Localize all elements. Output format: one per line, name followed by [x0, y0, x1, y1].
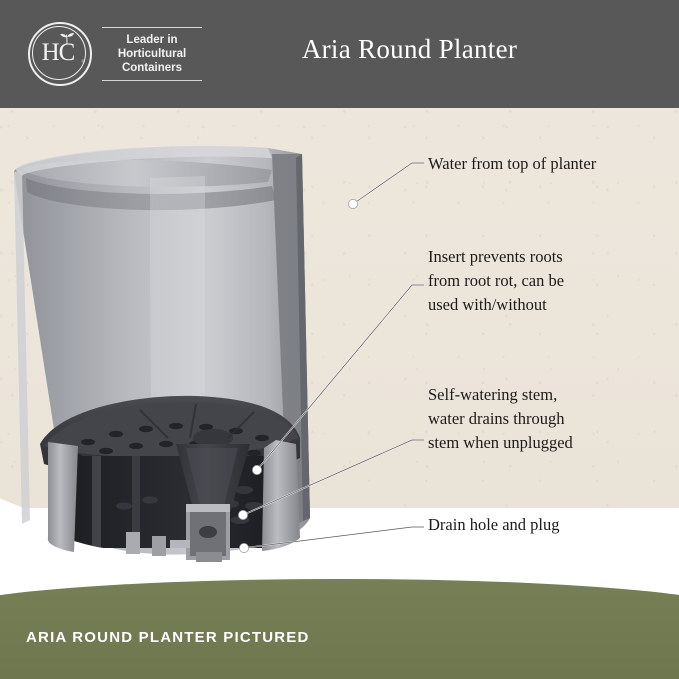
- callout-line: Water from top of planter: [428, 152, 596, 176]
- planter-illustration: [0, 108, 420, 578]
- callout-label-insert: Insert prevents roots from root rot, can…: [428, 245, 564, 317]
- callout-line: used with/without: [428, 293, 564, 317]
- callout-label-self-watering-stem: Self-watering stem, water drains through…: [428, 383, 573, 455]
- footer-caption: ARIA ROUND PLANTER PICTURED: [26, 629, 310, 646]
- callout-label-drain-hole: Drain hole and plug: [428, 513, 560, 537]
- callout-line: Drain hole and plug: [428, 513, 560, 537]
- callout-line: water drains through: [428, 407, 573, 431]
- product-infographic: HC ® Leader in Horticultural Containers …: [0, 0, 679, 679]
- drain-hole: [199, 526, 217, 538]
- callout-line: from root rot, can be: [428, 269, 564, 293]
- page-title: Aria Round Planter: [0, 34, 679, 65]
- callout-line: stem when unplugged: [428, 431, 573, 455]
- footer-band: ARIA ROUND PLANTER PICTURED: [0, 579, 679, 679]
- callout-line: Insert prevents roots: [428, 245, 564, 269]
- header-bar: HC ® Leader in Horticultural Containers …: [0, 0, 679, 108]
- callout-line: Self-watering stem,: [428, 383, 573, 407]
- callout-label-water-from-top: Water from top of planter: [428, 152, 596, 176]
